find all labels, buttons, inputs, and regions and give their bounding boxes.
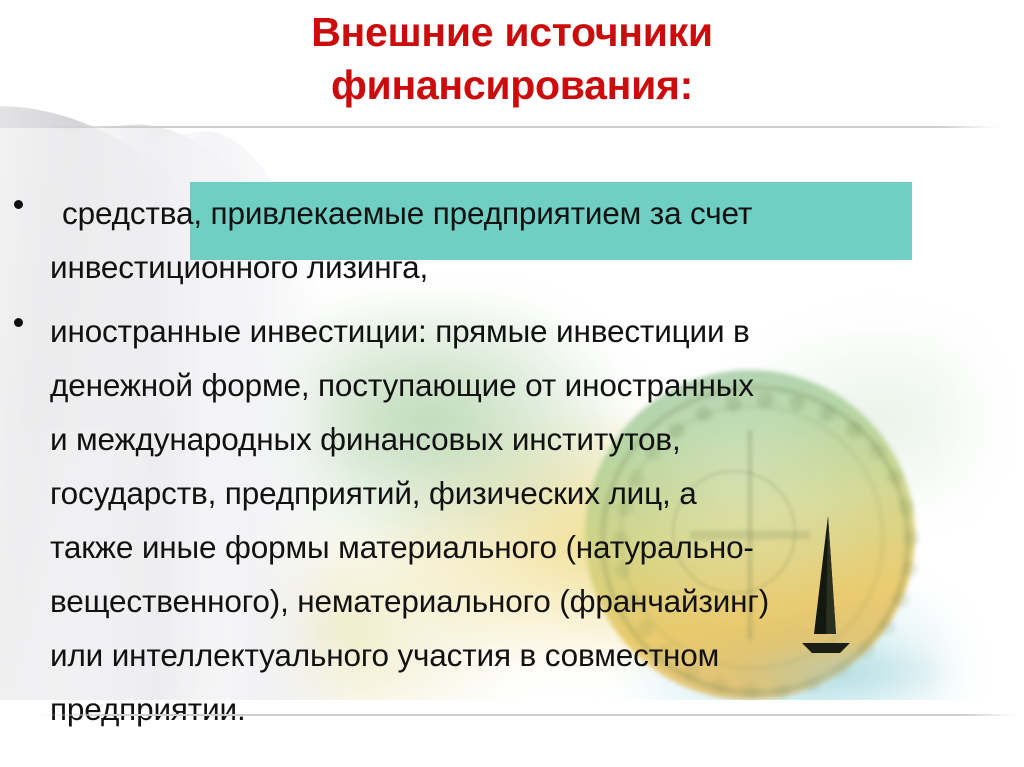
slide-title: Внешние источники финансирования: (60, 6, 964, 113)
list-item-text: иностранные инвестиции: прямые инвестици… (50, 304, 1024, 736)
bullet-marker-icon (14, 318, 23, 327)
bottom-divider (38, 714, 1018, 716)
list-item: средства, привлекаемые предприятием за с… (0, 186, 1024, 294)
bullet-marker-icon (14, 200, 23, 209)
title-divider (38, 126, 998, 128)
list-item-text: средства, привлекаемые предприятием за с… (50, 186, 1024, 294)
slide-canvas: Внешние источники финансирования: средст… (0, 0, 1024, 767)
slide-body: средства, привлекаемые предприятием за с… (0, 186, 1024, 746)
list-item: иностранные инвестиции: прямые инвестици… (0, 304, 1024, 736)
